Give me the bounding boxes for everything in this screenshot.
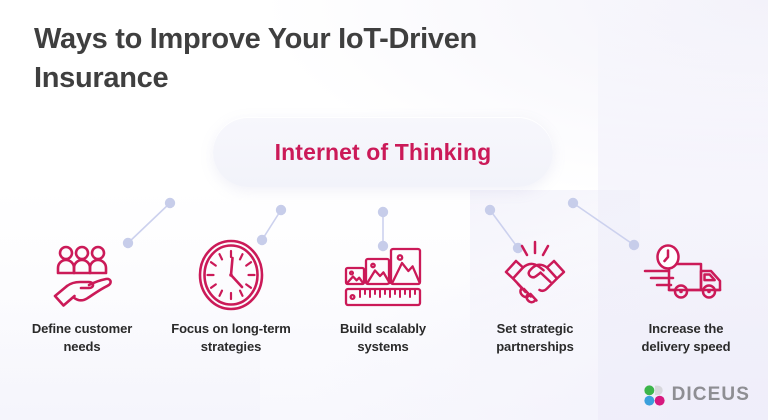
item-label-2: Focus on long-term strategies (156, 320, 306, 357)
item-label-5: Increase the delivery speed (611, 320, 761, 357)
diceus-logo[interactable]: DICEUS (644, 384, 750, 406)
connector-node-top-1 (165, 198, 175, 208)
item-label-4-line-1: Set strategic (460, 320, 610, 338)
center-badge: Internet of Thinking (213, 117, 553, 187)
item-label-1: Define customer needs (7, 320, 157, 357)
item-column-1: Define customer needs (6, 236, 158, 357)
item-column-2: Focus on long-term strategies (155, 236, 307, 357)
item-label-4-line-2: partnerships (460, 338, 610, 356)
diceus-wordmark: DICEUS (672, 384, 750, 406)
center-badge-label: Internet of Thinking (275, 139, 492, 166)
item-column-4: Set strategic partnerships (459, 236, 611, 357)
item-label-2-line-1: Focus on long-term (156, 320, 306, 338)
item-label-3: Build scalably systems (308, 320, 458, 357)
scaling-images-ruler-icon (342, 236, 424, 314)
item-label-1-line-2: needs (7, 338, 157, 356)
diceus-logo-mark (644, 385, 665, 406)
item-label-1-line-1: Define customer (7, 320, 157, 338)
item-column-3: Build scalably systems (307, 236, 459, 357)
item-label-4: Set strategic partnerships (460, 320, 610, 357)
item-label-2-line-2: strategies (156, 338, 306, 356)
clock-icon (197, 236, 265, 314)
item-label-5-line-2: delivery speed (611, 338, 761, 356)
item-column-5: Increase the delivery speed (610, 236, 762, 357)
item-label-3-line-1: Build scalably (308, 320, 458, 338)
connector-lines (0, 0, 768, 420)
infographic-canvas: Ways to Improve Your IoT-Driven Insuranc… (0, 0, 768, 420)
connector-node-top-4 (485, 205, 495, 215)
item-label-3-line-2: systems (308, 338, 458, 356)
connector-node-top-3 (378, 207, 388, 217)
people-hand-icon (44, 236, 120, 314)
handshake-icon (498, 236, 572, 314)
item-label-5-line-1: Increase the (611, 320, 761, 338)
connector-node-top-5 (568, 198, 578, 208)
connector-node-top-2 (276, 205, 286, 215)
delivery-truck-clock-icon (643, 236, 729, 314)
